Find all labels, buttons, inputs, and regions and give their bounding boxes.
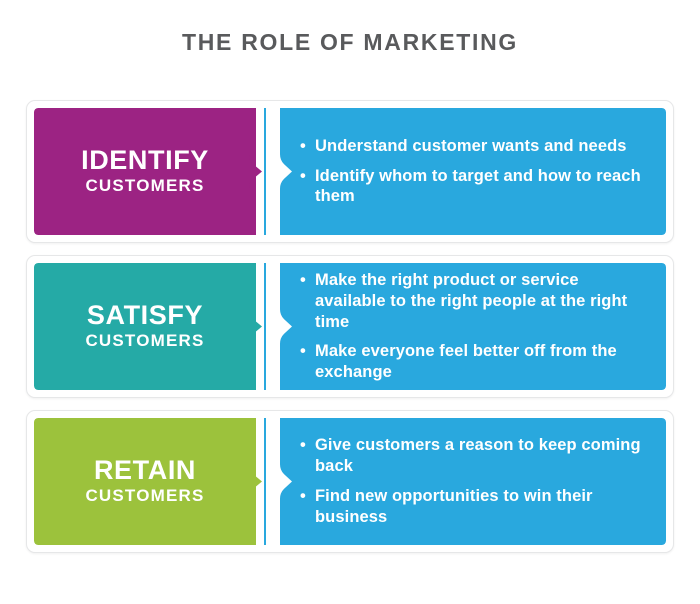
bullet-panel: Understand customer wants and needs Iden… bbox=[264, 108, 666, 235]
stage-secondary-label: CUSTOMERS bbox=[85, 331, 204, 351]
infographic-page: THE ROLE OF MARKETING Understand custome… bbox=[0, 0, 700, 604]
bullet-item: Identify whom to target and how to reach… bbox=[300, 166, 650, 208]
chevron-arrow-icon bbox=[242, 108, 268, 235]
role-row: Understand customer wants and needs Iden… bbox=[26, 100, 674, 243]
stage-label-block: SATISFY CUSTOMERS bbox=[34, 263, 256, 390]
stage-label-block: IDENTIFY CUSTOMERS bbox=[34, 108, 256, 235]
stage-secondary-label: CUSTOMERS bbox=[85, 486, 204, 506]
bullet-list: Give customers a reason to keep coming b… bbox=[300, 435, 650, 528]
role-row: Make the right product or service availa… bbox=[26, 255, 674, 398]
stage-primary-label: SATISFY bbox=[87, 301, 203, 329]
role-rows-container: Understand customer wants and needs Iden… bbox=[26, 100, 674, 565]
bullet-item: Give customers a reason to keep coming b… bbox=[300, 435, 650, 477]
bullet-panel: Give customers a reason to keep coming b… bbox=[264, 418, 666, 545]
stage-primary-label: IDENTIFY bbox=[81, 146, 209, 174]
role-row: Give customers a reason to keep coming b… bbox=[26, 410, 674, 553]
stage-label-block: RETAIN CUSTOMERS bbox=[34, 418, 256, 545]
bullet-item: Understand customer wants and needs bbox=[300, 136, 650, 157]
role-row-inner: Understand customer wants and needs Iden… bbox=[34, 108, 666, 235]
stage-primary-label: RETAIN bbox=[94, 456, 196, 484]
role-row-inner: Make the right product or service availa… bbox=[34, 263, 666, 390]
bullet-list: Make the right product or service availa… bbox=[300, 270, 650, 384]
bullet-list: Understand customer wants and needs Iden… bbox=[300, 136, 650, 208]
page-title: THE ROLE OF MARKETING bbox=[0, 29, 700, 56]
bullet-item: Find new opportunities to win their busi… bbox=[300, 486, 650, 528]
bullet-item: Make the right product or service availa… bbox=[300, 270, 650, 333]
stage-secondary-label: CUSTOMERS bbox=[85, 176, 204, 196]
bullet-panel: Make the right product or service availa… bbox=[264, 263, 666, 390]
bullet-item: Make everyone feel better off from the e… bbox=[300, 341, 650, 383]
chevron-arrow-icon bbox=[242, 263, 268, 390]
chevron-arrow-icon bbox=[242, 418, 268, 545]
role-row-inner: Give customers a reason to keep coming b… bbox=[34, 418, 666, 545]
